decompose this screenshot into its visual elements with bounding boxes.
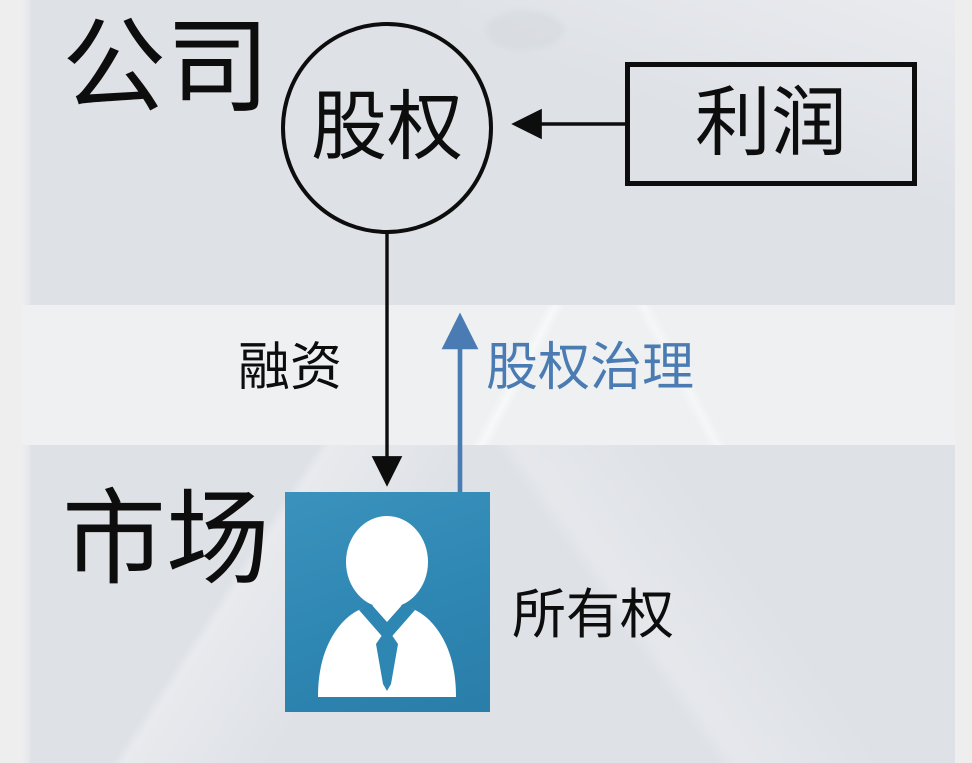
annotation-ownership: 所有权 bbox=[512, 588, 674, 642]
node-owner-tile[interactable] bbox=[285, 492, 490, 712]
edge-label-financing: 融资 bbox=[238, 342, 342, 394]
zone-label-market: 市场 bbox=[62, 490, 202, 592]
businessman-icon bbox=[285, 492, 490, 712]
diagram-canvas: 公司 市场 股权 利润 融资 股权治理 bbox=[0, 0, 972, 763]
zone-label-company: 公司 bbox=[62, 18, 202, 120]
node-equity-label: 股权 bbox=[311, 90, 463, 166]
node-profit-label: 利润 bbox=[695, 86, 847, 162]
node-equity-circle[interactable]: 股权 bbox=[281, 22, 493, 234]
zone-band-company-edge bbox=[22, 0, 30, 305]
zone-band-market-edge bbox=[22, 445, 30, 763]
edge-label-governance: 股权治理 bbox=[486, 342, 694, 394]
node-profit-box[interactable]: 利润 bbox=[625, 62, 917, 186]
